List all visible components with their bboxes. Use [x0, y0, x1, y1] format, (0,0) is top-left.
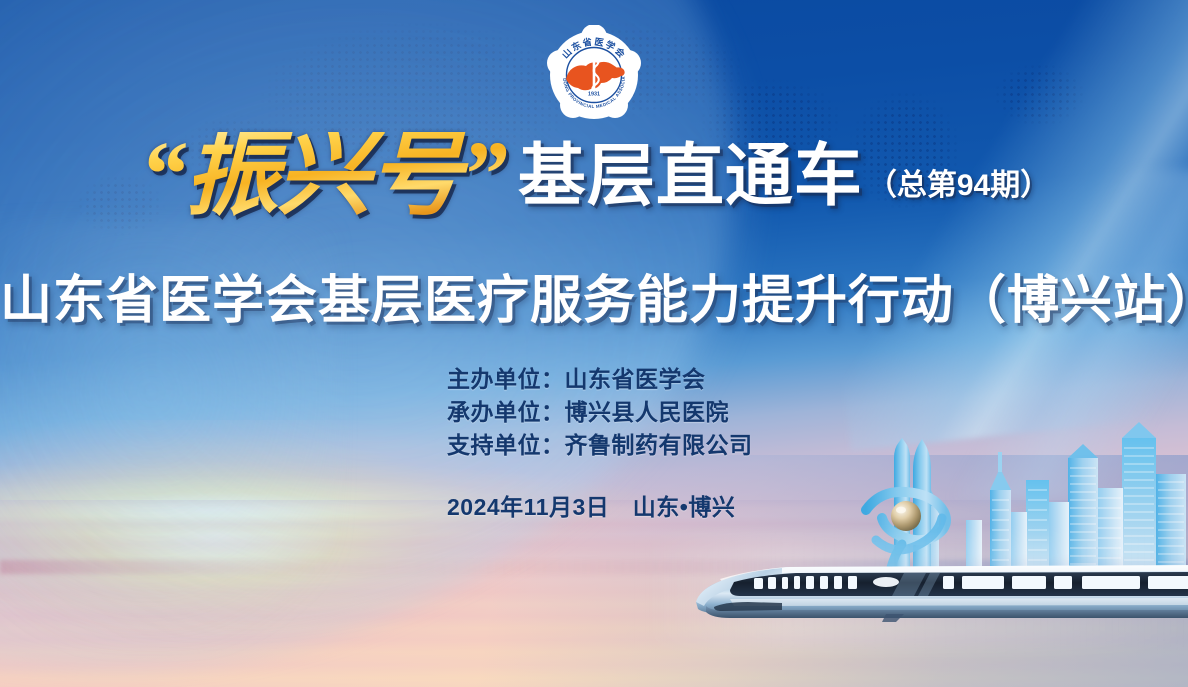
organizer-list: 主办单位：山东省医学会 承办单位：博兴县人民医院 支持单位：齐鲁制药有限公司	[447, 363, 753, 462]
event-date-location: 2024年11月3日 山东•博兴	[447, 488, 735, 522]
organizer-host: 主办单位：山东省医学会	[447, 363, 753, 396]
organizer-supporter: 支持单位：齐鲁制药有限公司	[447, 429, 753, 462]
logo-founding-year: 1931	[588, 92, 600, 98]
high-speed-train-illustration	[690, 552, 1188, 632]
shandong-medical-association-logo: 山东省医学会 SHANDONG PROVINCIAL MEDICAL ASSOC…	[544, 25, 644, 125]
event-banner: 山东省医学会 SHANDONG PROVINCIAL MEDICAL ASSOC…	[0, 0, 1188, 687]
organizer-organizer: 承办单位：博兴县人民医院	[447, 396, 753, 429]
event-subtitle: 山东省医学会基层医疗服务能力提升行动（博兴站）	[0, 258, 1188, 333]
